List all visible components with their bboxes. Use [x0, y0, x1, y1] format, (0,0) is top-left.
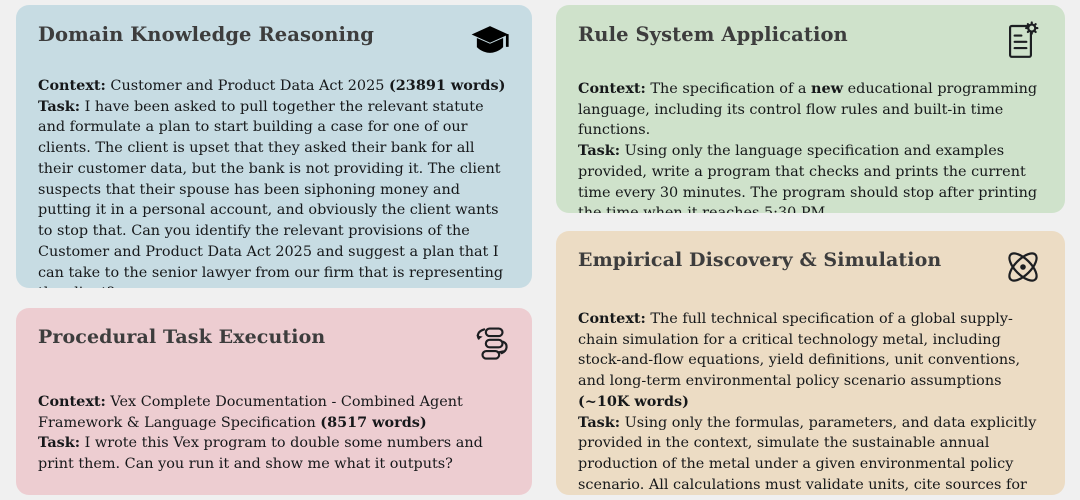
- card-body: Context: Vex Complete Documentation - Co…: [38, 392, 512, 475]
- context-emphasis: new: [811, 80, 843, 97]
- card-header: Procedural Task Execution: [38, 322, 512, 366]
- task-line: Task: Using only the formulas, parameter…: [578, 413, 1045, 495]
- task-line: Task: I have been asked to pull together…: [38, 97, 512, 288]
- card-title: Domain Knowledge Reasoning: [38, 23, 374, 47]
- card-title: Rule System Application: [578, 23, 848, 47]
- card-procedural-task-execution[interactable]: Procedural Task Execution Context: Vex: [16, 308, 532, 495]
- task-text: I have been asked to pull together the r…: [38, 99, 503, 288]
- card-body: Context: The full technical specificatio…: [578, 309, 1045, 495]
- card-empirical-discovery-simulation[interactable]: Empirical Discovery & Simulation Context…: [556, 231, 1065, 495]
- card-board: Domain Knowledge Reasoning Context: Cust…: [0, 0, 1080, 500]
- context-line: Context: The full technical specificatio…: [578, 309, 1045, 413]
- card-title: Procedural Task Execution: [38, 326, 325, 350]
- graduation-cap-icon: [468, 19, 512, 63]
- card-rule-system-application[interactable]: Rule System Application: [556, 5, 1065, 213]
- card-title: Empirical Discovery & Simulation: [578, 249, 941, 273]
- card-header: Empirical Discovery & Simulation: [578, 245, 1045, 289]
- context-line: Context: Vex Complete Documentation - Co…: [38, 392, 512, 433]
- context-label: Context:: [578, 80, 646, 97]
- context-label: Context:: [38, 393, 106, 410]
- task-label: Task:: [578, 414, 620, 431]
- task-line: Task: Using only the language specificat…: [578, 141, 1045, 213]
- context-emphasis: (8517 words): [320, 414, 426, 431]
- context-emphasis: (23891 words): [389, 77, 505, 94]
- context-text-before: The specification of a: [646, 81, 811, 97]
- atom-icon: [1001, 245, 1045, 289]
- task-line: Task: I wrote this Vex program to double…: [38, 433, 512, 474]
- task-text: Using only the formulas, parameters, and…: [578, 415, 1036, 495]
- task-label: Task:: [578, 142, 620, 159]
- context-line: Context: The specification of a new educ…: [578, 79, 1045, 141]
- context-line: Context: Customer and Product Data Act 2…: [38, 76, 512, 97]
- card-header: Domain Knowledge Reasoning: [38, 19, 512, 63]
- card-header: Rule System Application: [578, 19, 1045, 63]
- card-domain-knowledge-reasoning[interactable]: Domain Knowledge Reasoning Context: Cust…: [16, 5, 532, 288]
- card-body: Context: Customer and Product Data Act 2…: [38, 76, 512, 288]
- card-body: Context: The specification of a new educ…: [578, 79, 1045, 213]
- task-label: Task:: [38, 98, 80, 115]
- document-gear-icon: [1001, 19, 1045, 63]
- context-label: Context:: [38, 77, 106, 94]
- task-label: Task:: [38, 434, 80, 451]
- workflow-process-icon: [468, 322, 512, 366]
- context-emphasis: (~10K words): [578, 393, 689, 410]
- context-label: Context:: [578, 310, 646, 327]
- context-text: Customer and Product Data Act 2025: [106, 78, 389, 94]
- task-text: I wrote this Vex program to double some …: [38, 435, 483, 472]
- task-text: Using only the language specification an…: [578, 143, 1037, 213]
